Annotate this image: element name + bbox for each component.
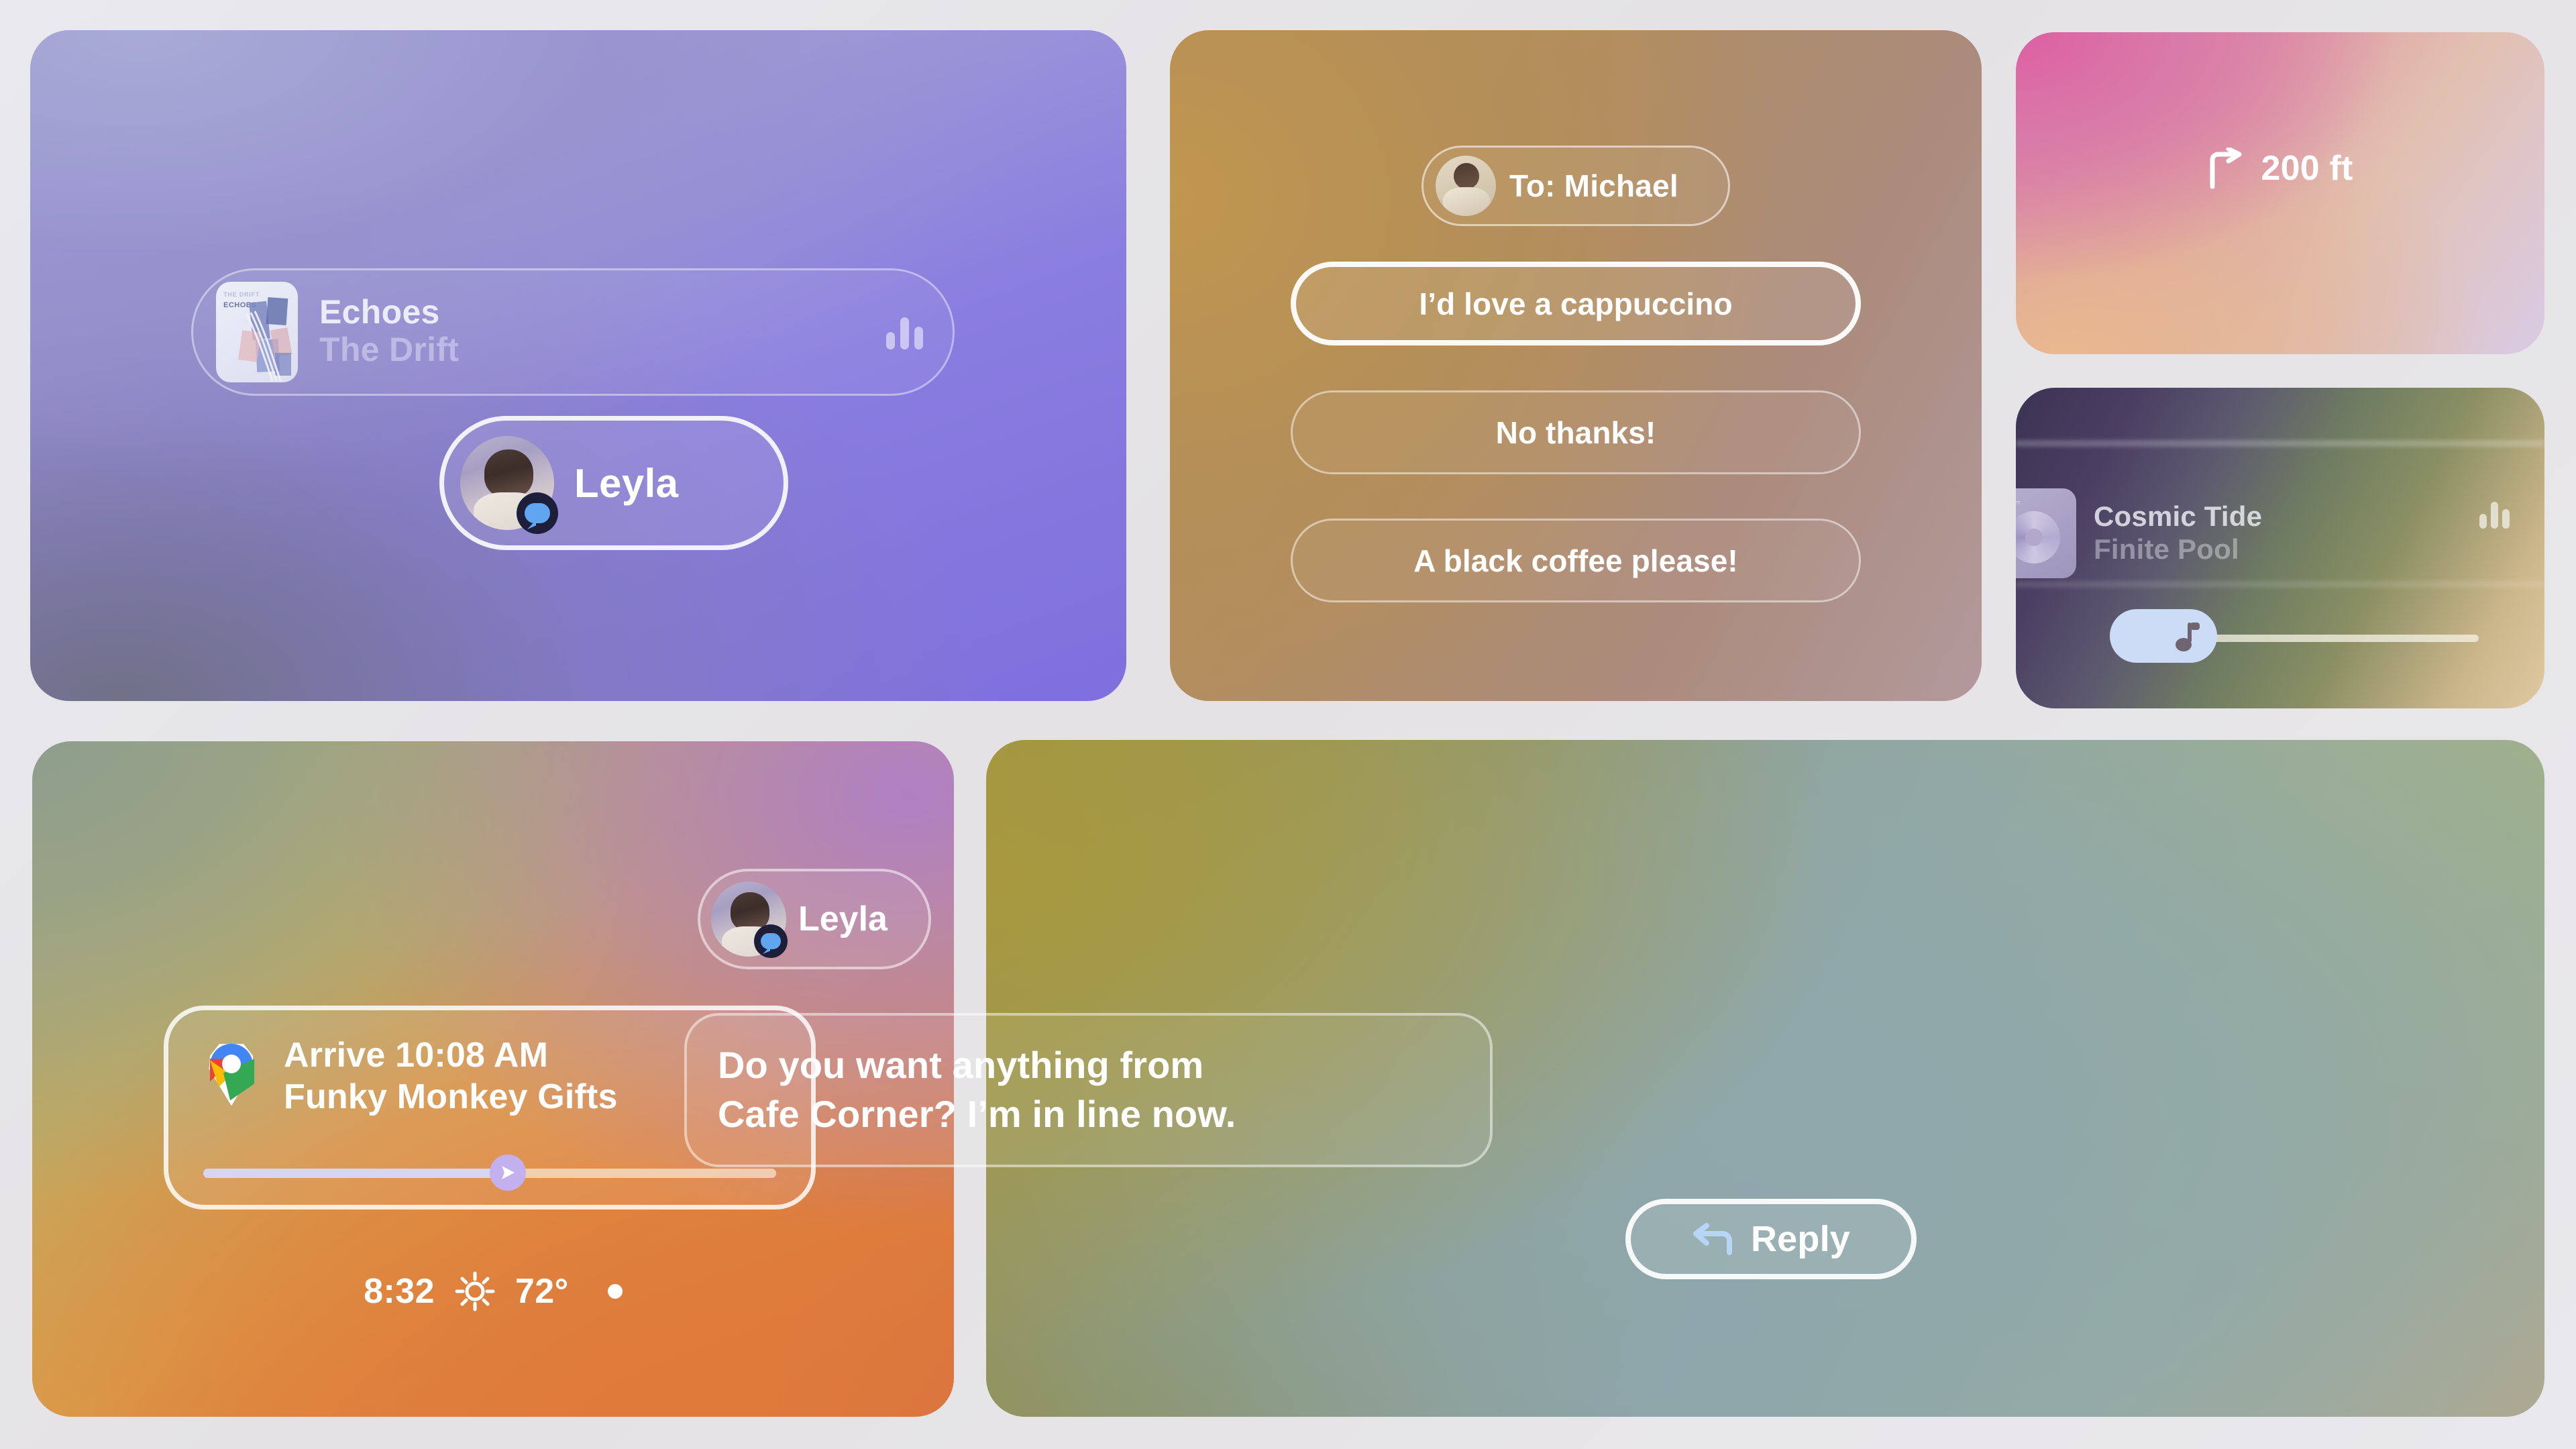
- messages-badge-icon: [517, 492, 558, 534]
- contact-name: Leyla: [574, 460, 678, 506]
- message-bubble: Do you want anything from Cafe Corner? I…: [684, 1013, 1493, 1167]
- card-nav-distance[interactable]: 200 ft: [2016, 32, 2544, 354]
- track-artist: Finite Pool: [2094, 532, 2262, 566]
- route-progress-slider[interactable]: [203, 1157, 776, 1189]
- card-music-message[interactable]: THE DRIFT ECHOES Echoes The Drift: [30, 30, 1126, 701]
- widget-canvas: THE DRIFT ECHOES Echoes The Drift: [0, 0, 2576, 1449]
- reply-arrow-icon: [1692, 1223, 1733, 1255]
- sender-name: Leyla: [798, 899, 888, 939]
- sun-icon: [455, 1271, 495, 1311]
- message-line-1: Do you want anything from: [718, 1041, 1459, 1090]
- card-reply-options[interactable]: To: Michael I’d love a cappuccino No tha…: [1170, 30, 1982, 701]
- track-artist: The Drift: [319, 330, 886, 370]
- recipient-pill[interactable]: To: Michael: [1421, 146, 1730, 226]
- slider-thumb[interactable]: [490, 1155, 526, 1191]
- now-playing-widget[interactable]: THE DRIFT ECHOES Echoes The Drift: [191, 268, 955, 396]
- clock-label: 8:32: [364, 1271, 435, 1311]
- slider-track: [2210, 635, 2479, 642]
- reply-option-0[interactable]: I’d love a cappuccino: [1291, 262, 1861, 345]
- avatar: [711, 881, 786, 957]
- google-maps-pin-icon: [197, 1038, 266, 1114]
- music-note-icon: [2176, 620, 2201, 652]
- avatar: [460, 436, 554, 530]
- turn-right-icon: [2207, 148, 2246, 189]
- distance-label: 200 ft: [2261, 148, 2353, 189]
- navigation-arrow-icon: [498, 1163, 517, 1182]
- track-title: Echoes: [319, 294, 886, 330]
- equalizer-icon: [2479, 499, 2510, 529]
- music-progress-slider[interactable]: [2064, 609, 2518, 667]
- recipient-label: To: Michael: [1509, 168, 1678, 204]
- reply-button[interactable]: Reply: [1625, 1199, 1917, 1279]
- reply-option-2[interactable]: A black coffee please!: [1291, 519, 1861, 602]
- avatar: [1436, 156, 1496, 216]
- card-music-mini[interactable]: THEDRIFT Cosmic Tide Finite Pool: [2016, 388, 2544, 708]
- slider-fill: [203, 1169, 501, 1178]
- reply-label: Reply: [1751, 1218, 1850, 1260]
- eta-label: Arrive 10:08 AM: [284, 1034, 618, 1076]
- destination-label: Funky Monkey Gifts: [284, 1076, 618, 1118]
- temperature-label: 72°: [515, 1271, 569, 1311]
- slider-thumb[interactable]: [2110, 609, 2217, 663]
- message-line-2: Cafe Corner? I’m in line now.: [718, 1090, 1459, 1139]
- equalizer-icon: [886, 315, 923, 350]
- contact-pill-leyla[interactable]: Leyla: [439, 416, 788, 550]
- sender-pill-leyla[interactable]: Leyla: [698, 869, 931, 969]
- track-title: Cosmic Tide: [2094, 500, 2262, 532]
- reply-option-1[interactable]: No thanks!: [1291, 390, 1861, 474]
- album-art: THEDRIFT: [2016, 488, 2076, 578]
- status-row: 8:32 72°: [32, 1271, 954, 1311]
- album-art: THE DRIFT ECHOES: [216, 282, 298, 382]
- messages-badge-icon: [754, 924, 788, 958]
- status-dot-icon: [608, 1284, 623, 1299]
